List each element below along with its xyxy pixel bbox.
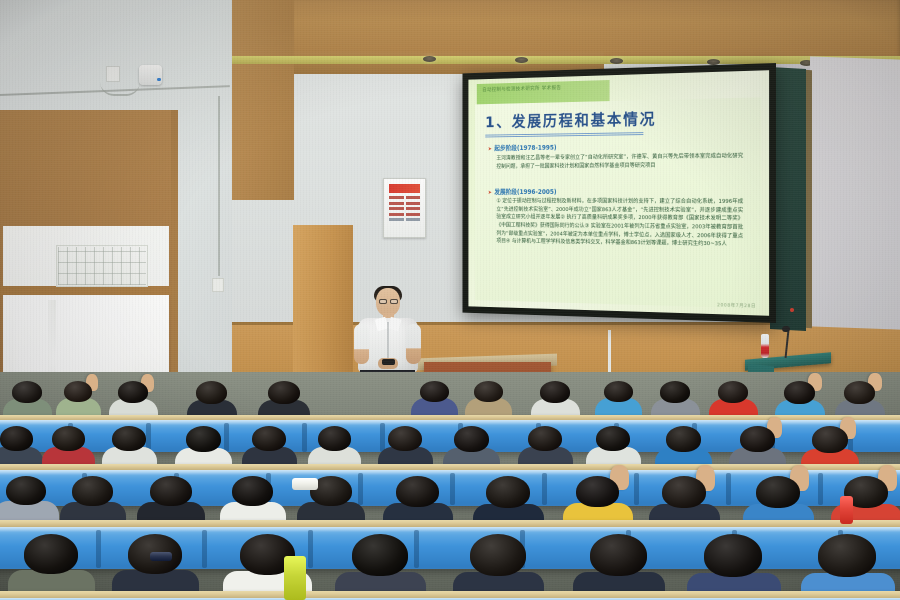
audience-member-head bbox=[420, 381, 449, 402]
wall-socket[interactable] bbox=[212, 278, 224, 292]
wall-notice bbox=[383, 178, 426, 238]
audience-member-head bbox=[666, 426, 701, 452]
board-indicator-icon bbox=[790, 308, 794, 312]
green-thermos bbox=[284, 556, 306, 600]
notice-row bbox=[389, 213, 420, 216]
audience-member-head bbox=[64, 381, 92, 402]
remote-clicker-icon bbox=[382, 359, 395, 365]
audience-member-head bbox=[352, 534, 408, 576]
audience-member-head bbox=[540, 381, 570, 403]
audience-member-head bbox=[756, 476, 800, 508]
audience-member-head bbox=[740, 426, 775, 452]
audience-member-head bbox=[186, 426, 221, 452]
seat-divider bbox=[96, 530, 101, 568]
audience-member-head bbox=[812, 426, 848, 453]
audience-member-head bbox=[268, 381, 300, 404]
audience-member-head bbox=[818, 534, 876, 577]
audience-member-head bbox=[24, 534, 78, 574]
notice-header-bar bbox=[389, 184, 420, 193]
whiteboard bbox=[810, 56, 900, 329]
audience-member-head bbox=[576, 476, 619, 507]
ceiling-wood-panel-left bbox=[232, 0, 294, 200]
notice-row bbox=[389, 202, 420, 205]
audience-member-head bbox=[590, 534, 647, 576]
audience-member-head bbox=[72, 476, 113, 506]
red-water-bottle bbox=[840, 496, 853, 524]
audience-member-head bbox=[718, 381, 748, 403]
seat-divider bbox=[302, 423, 307, 452]
audience-member-head bbox=[150, 476, 192, 506]
presenter-arm bbox=[354, 324, 369, 364]
downlight-icon bbox=[423, 56, 436, 62]
audience-member-head bbox=[232, 476, 273, 506]
notice-row bbox=[389, 196, 420, 199]
audience-member-head bbox=[52, 426, 85, 451]
slide-paragraph-1: 王河清教授和汪乙昌等老一辈专家创立了“自动化所研究室”，许德军、黄自兴等先后带领… bbox=[496, 153, 743, 172]
audience-member-head bbox=[252, 426, 286, 451]
audience-area bbox=[0, 372, 900, 600]
audience-member-head bbox=[318, 426, 351, 451]
slide-footer: 2008年7月28日 bbox=[717, 302, 756, 309]
seat-divider bbox=[358, 473, 363, 505]
audience-member-head bbox=[396, 476, 439, 507]
audience-member-head bbox=[474, 381, 503, 402]
downlight-icon bbox=[515, 57, 528, 63]
notice-row bbox=[389, 207, 420, 210]
audience-member-head bbox=[844, 381, 875, 404]
glasses-icon bbox=[390, 299, 398, 304]
seat-divider bbox=[634, 473, 639, 505]
seat-divider bbox=[380, 423, 385, 452]
seat-divider bbox=[450, 473, 455, 505]
audience-member-head bbox=[6, 476, 46, 505]
audience-member-head bbox=[784, 381, 815, 404]
slide-title: 1、发展历程和基本情况 bbox=[485, 106, 656, 132]
audience-member-head bbox=[454, 426, 489, 452]
notice-row bbox=[389, 218, 420, 221]
slide-heading-1: 起步阶段(1978-1995) bbox=[488, 142, 557, 152]
audience-member-head bbox=[12, 381, 42, 403]
junction-box bbox=[106, 66, 120, 82]
audience-member-head bbox=[704, 534, 762, 577]
seat-divider bbox=[308, 530, 313, 568]
audience-member-head bbox=[662, 476, 706, 508]
slide-paragraph-2: ① 定位于振动控制与过程控制及新材料，在多项国家科技计划的支持下，建立了综合自动… bbox=[496, 198, 743, 250]
audience-member-head bbox=[388, 426, 422, 451]
projection-screen-frame: 自动控制与检测技术研究所 学术报告 1、发展历程和基本情况 起步阶段(1978-… bbox=[463, 63, 776, 323]
paper-sheet bbox=[292, 478, 318, 490]
seat-divider bbox=[414, 530, 419, 568]
water-bottle bbox=[761, 334, 769, 358]
door-mullion bbox=[0, 286, 172, 295]
glasses-icon bbox=[379, 299, 387, 304]
audience-member-head bbox=[196, 381, 227, 404]
lecture-hall-photo: 自动控制与检测技术研究所 学术报告 1、发展历程和基本情况 起步阶段(1978-… bbox=[0, 0, 900, 600]
seat-divider bbox=[726, 473, 731, 505]
audience-member-head bbox=[528, 426, 562, 451]
window-grille bbox=[58, 247, 146, 285]
phone-on-desk bbox=[150, 552, 172, 561]
audience-member-head bbox=[486, 476, 530, 508]
audience-member-head bbox=[0, 426, 33, 451]
open-doorway[interactable] bbox=[0, 110, 178, 400]
seat-divider bbox=[542, 473, 547, 505]
downlight-icon bbox=[610, 58, 623, 64]
seat-divider bbox=[818, 473, 823, 505]
projection-screen: 自动控制与检测技术研究所 学术报告 1、发展历程和基本情况 起步阶段(1978-… bbox=[468, 70, 769, 316]
audience-member-head bbox=[118, 381, 148, 403]
audience-member-head bbox=[112, 426, 146, 451]
seat-divider bbox=[202, 530, 207, 568]
wifi-access-point-icon bbox=[139, 65, 162, 85]
audience-member-head bbox=[470, 534, 526, 576]
seat-divider bbox=[224, 423, 229, 452]
presenter-arm bbox=[406, 324, 421, 364]
audience-member-head bbox=[660, 381, 690, 403]
slide-heading-2: 发展阶段(1996-2005) bbox=[488, 186, 557, 195]
wall-cable-drop bbox=[218, 96, 220, 276]
audience-member-head bbox=[596, 426, 630, 451]
wifi-status-led-icon bbox=[157, 78, 161, 81]
audience-member-head bbox=[604, 381, 633, 402]
wooden-column bbox=[293, 225, 353, 385]
microphone-icon bbox=[782, 326, 790, 332]
